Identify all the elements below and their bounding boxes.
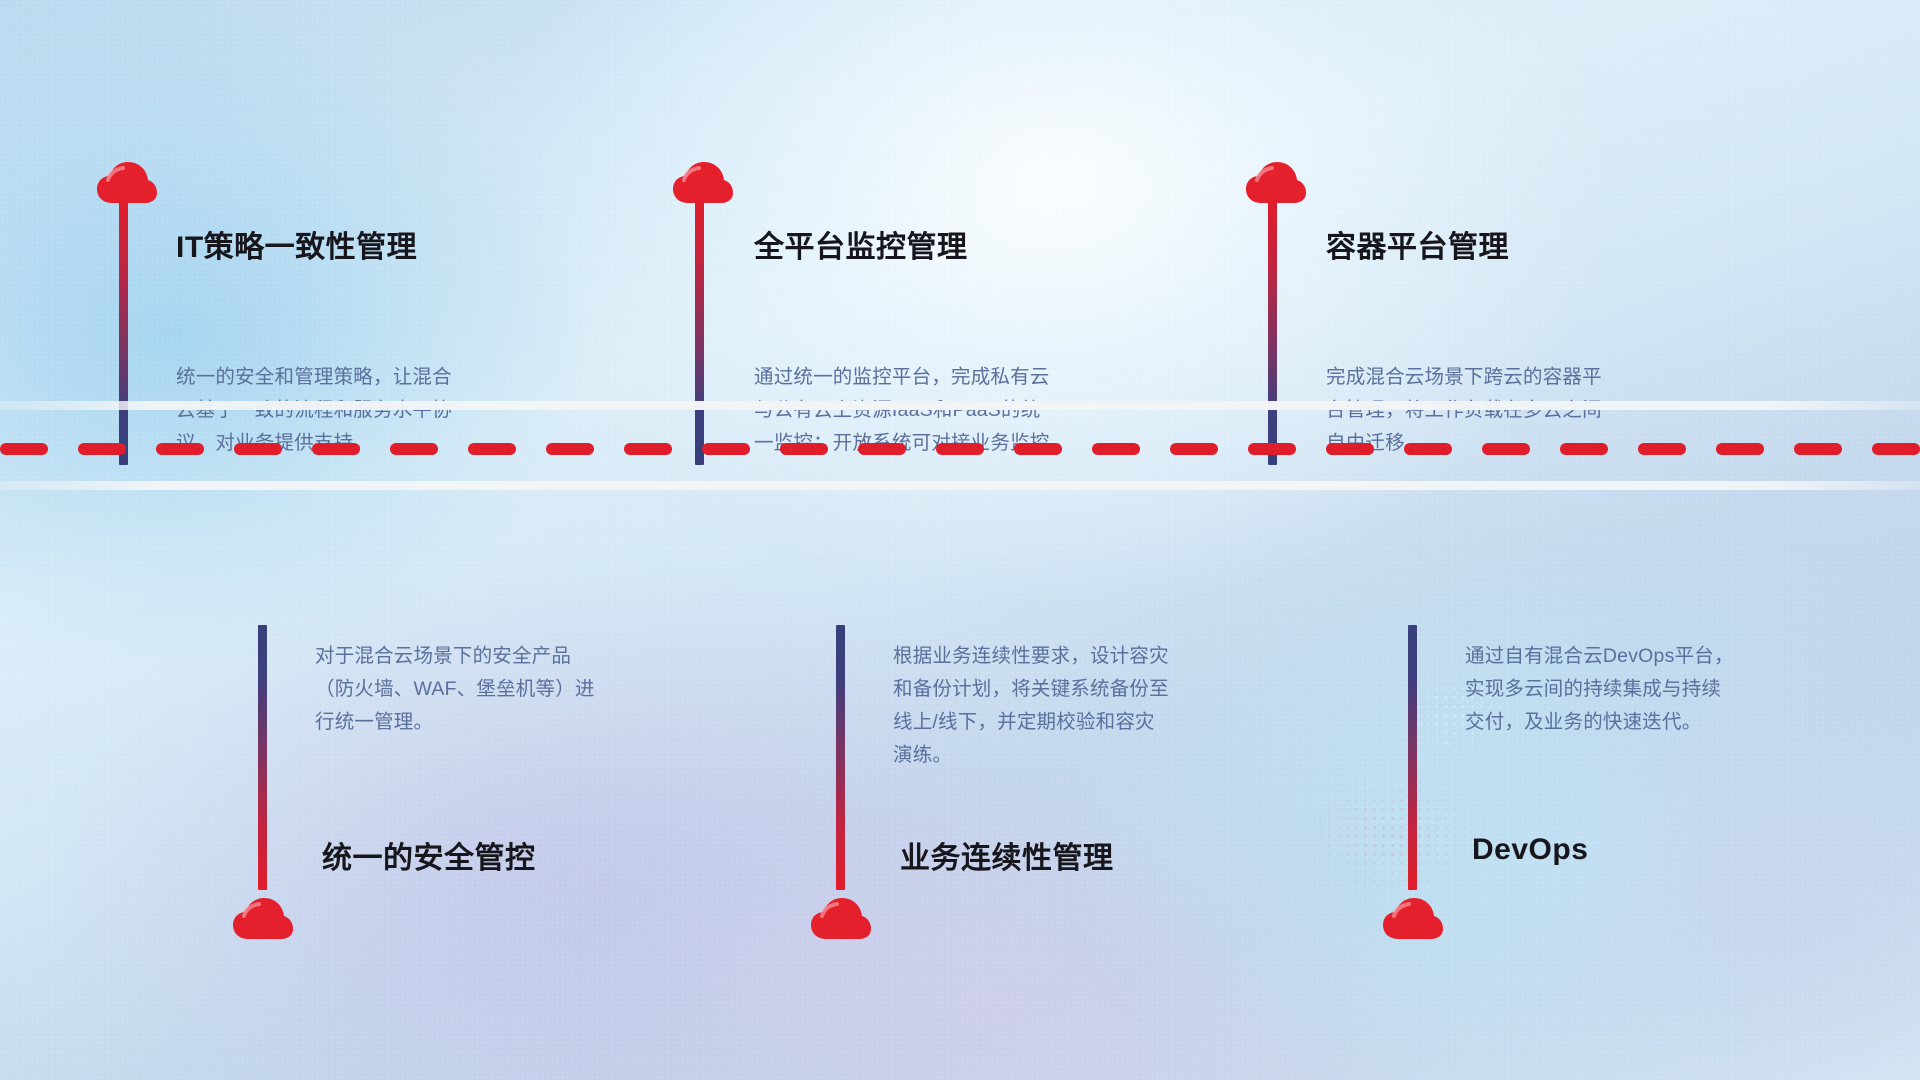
dash-segment bbox=[0, 443, 48, 455]
body-line: 行统一管理。 bbox=[315, 706, 745, 739]
body-line: 根据业务连续性要求，设计容灾 bbox=[893, 640, 1323, 673]
body-line: 和备份计划，将关键系统备份至 bbox=[893, 673, 1323, 706]
dash-segment bbox=[1170, 443, 1218, 455]
bottom-item-1-title: 统一的安全管控 bbox=[322, 833, 536, 877]
cloud-icon bbox=[672, 161, 734, 205]
top-item-1-title: IT策略一致性管理 bbox=[176, 222, 417, 266]
dash-segment bbox=[1326, 443, 1374, 455]
dash-segment bbox=[234, 443, 282, 455]
dash-segment bbox=[1716, 443, 1764, 455]
body-line: 实现多云间的持续集成与持续 bbox=[1465, 673, 1895, 706]
top-item-3-title: 容器平台管理 bbox=[1326, 222, 1509, 266]
body-line: 线上/线下，并定期校验和容灾 bbox=[893, 706, 1323, 739]
infographic-canvas: IT策略一致性管理 统一的安全和管理策略，让混合 云基于一致的流程和服务水平协 … bbox=[0, 0, 1920, 1080]
body-line: 交付，及业务的快速迭代。 bbox=[1465, 706, 1895, 739]
dash-segment bbox=[1794, 443, 1842, 455]
body-line: 完成混合云场景下跨云的容器平 bbox=[1326, 361, 1746, 394]
cloud-icon bbox=[96, 161, 158, 205]
body-line: （防火墙、WAF、堡垒机等）进 bbox=[315, 673, 745, 706]
timeline-stem bbox=[836, 625, 845, 890]
dash-segment bbox=[780, 443, 828, 455]
dash-segment bbox=[312, 443, 360, 455]
bottom-item-2-body: 根据业务连续性要求，设计容灾 和备份计划，将关键系统备份至 线上/线下，并定期校… bbox=[893, 640, 1323, 772]
bottom-item-3-body: 通过自有混合云DevOps平台， 实现多云间的持续集成与持续 交付，及业务的快速… bbox=[1465, 640, 1895, 739]
dash-segment bbox=[156, 443, 204, 455]
timeline-stem bbox=[258, 625, 267, 890]
dash-segment bbox=[546, 443, 594, 455]
timeline-stem bbox=[695, 200, 704, 465]
dash-segment bbox=[1248, 443, 1296, 455]
dash-segment bbox=[1014, 443, 1062, 455]
dash-segment bbox=[1638, 443, 1686, 455]
body-line: 演练。 bbox=[893, 739, 1323, 772]
dash-segment bbox=[858, 443, 906, 455]
body-line: 云基于一致的流程和服务水平协 bbox=[176, 394, 596, 427]
bottom-item-2-title: 业务连续性管理 bbox=[900, 833, 1114, 877]
body-line: 台管理，将工作负载在多云之间 bbox=[1326, 394, 1746, 427]
cloud-icon bbox=[1382, 897, 1444, 941]
dash-segment bbox=[468, 443, 516, 455]
top-item-2-title: 全平台监控管理 bbox=[754, 222, 968, 266]
body-line: 统一的安全和管理策略，让混合 bbox=[176, 361, 596, 394]
dash-segment bbox=[1404, 443, 1452, 455]
dash-segment bbox=[624, 443, 672, 455]
dash-segment bbox=[1482, 443, 1530, 455]
cloud-icon bbox=[810, 897, 872, 941]
dashed-road-line bbox=[0, 443, 1920, 455]
dash-segment bbox=[1092, 443, 1140, 455]
body-line: 与公有云上资源IaaS和PaaS的统 bbox=[754, 394, 1204, 427]
cloud-icon bbox=[232, 897, 294, 941]
dash-segment bbox=[1560, 443, 1608, 455]
timeline-stem bbox=[1268, 200, 1277, 465]
body-line: 对于混合云场景下的安全产品 bbox=[315, 640, 745, 673]
body-line: 通过自有混合云DevOps平台， bbox=[1465, 640, 1895, 673]
bottom-item-1-body: 对于混合云场景下的安全产品 （防火墙、WAF、堡垒机等）进 行统一管理。 bbox=[315, 640, 745, 739]
dash-segment bbox=[390, 443, 438, 455]
dash-segment bbox=[702, 443, 750, 455]
dash-segment bbox=[936, 443, 984, 455]
cloud-icon bbox=[1245, 161, 1307, 205]
dash-segment bbox=[78, 443, 126, 455]
divider-line-bottom bbox=[0, 481, 1920, 490]
divider-line-top bbox=[0, 401, 1920, 410]
timeline-stem bbox=[1408, 625, 1417, 890]
bottom-item-3-title: DevOps bbox=[1472, 833, 1588, 867]
dash-segment bbox=[1872, 443, 1920, 455]
timeline-stem bbox=[119, 200, 128, 465]
body-line: 通过统一的监控平台，完成私有云 bbox=[754, 361, 1204, 394]
